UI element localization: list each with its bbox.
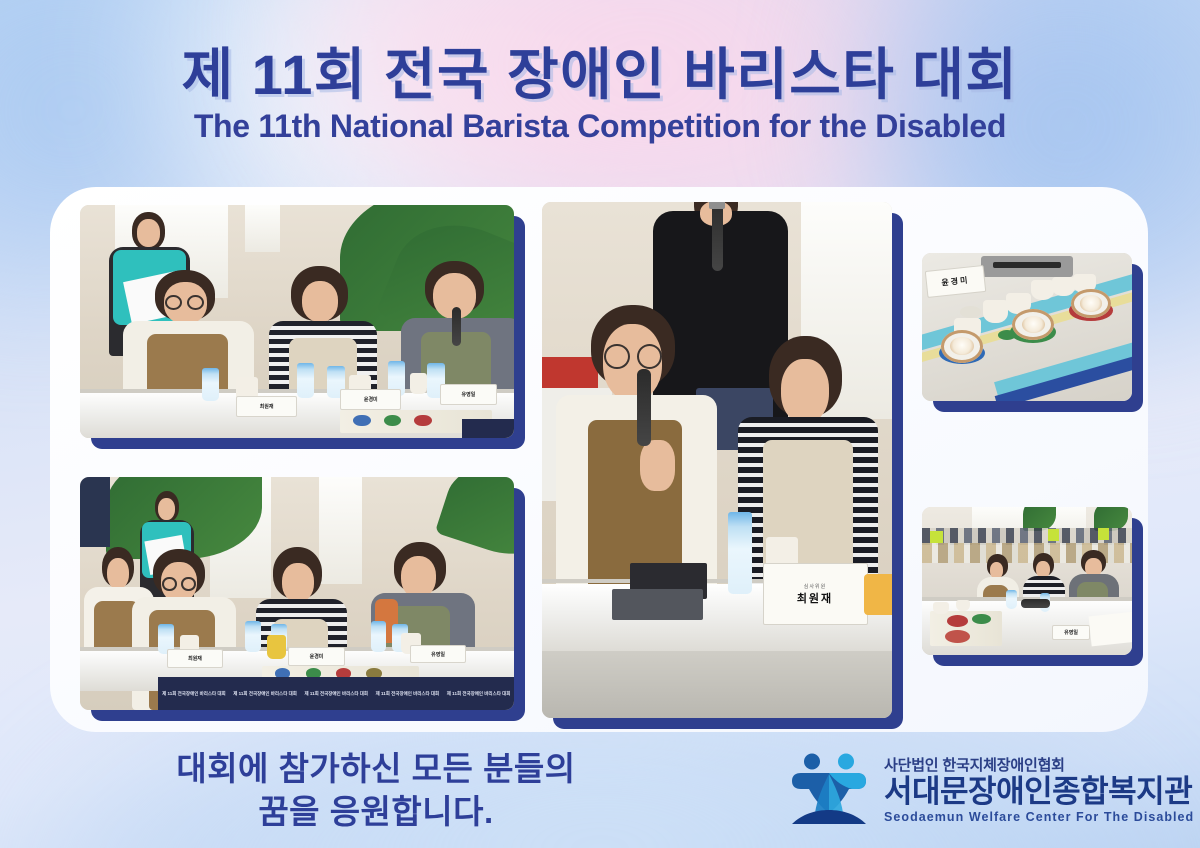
logo-text-block: 사단법인 한국지체장애인협회 서대문장애인종합복지관 Seodaemun Wel…: [884, 754, 1194, 825]
photo-top-left-namecard-1: 최원재: [236, 396, 297, 417]
photo-bottom-left-namecard-2: 윤경미: [288, 647, 344, 666]
photo-top-right-image: 윤경미: [922, 253, 1132, 401]
footer-message: 대회에 참가하신 모든 분들의 꿈을 응원합니다.: [96, 748, 656, 834]
photo-top-left-namecard-3: 유영일: [440, 384, 496, 405]
photo-bottom-right-namecard: 유영일: [1052, 625, 1090, 640]
photo-center[interactable]: 심사위원 최원재: [542, 202, 892, 718]
photo-bottom-right-image: 유영일: [922, 507, 1132, 655]
photo-center-namecard-name: 최원재: [797, 590, 833, 606]
footer-message-line2: 꿈을 응원합니다.: [96, 791, 656, 834]
photo-bottom-left-banner-text-4: 제 11회 전국장애인 바리스타 대회: [372, 691, 443, 697]
photo-top-right[interactable]: 윤경미: [922, 253, 1132, 401]
poster-root: 제 11회 전국 장애인 바리스타 대회 The 11th National B…: [0, 0, 1200, 848]
photo-bottom-left-banner-text-3: 제 11회 전국장애인 바리스타 대회: [300, 691, 371, 697]
photo-top-left-namecard-2: 윤경미: [340, 389, 401, 410]
two-people-arch-icon: [786, 752, 872, 826]
logo-association-name: 사단법인 한국지체장애인협회: [884, 754, 1194, 775]
photo-bottom-left-namecard-3: 유영일: [410, 645, 466, 664]
photo-center-namecard-role: 심사위원: [804, 583, 826, 590]
footer-message-line1: 대회에 참가하신 모든 분들의: [96, 748, 656, 791]
photo-bottom-left[interactable]: 최원재 윤경미 유영일 제 11회 전국장애인 바리스타 대회 제 11회 전국…: [80, 477, 514, 710]
logo-center-name-english: Seodaemun Welfare Center For The Disable…: [884, 810, 1194, 824]
page-title-korean: 제 11회 전국 장애인 바리스타 대회: [0, 46, 1200, 104]
logo-center-name-korean: 서대문장애인종합복지관: [884, 776, 1194, 809]
photo-top-right-namecard: 윤경미: [941, 274, 970, 288]
photo-bottom-left-banner-text-5: 제 11회 전국장애인 바리스타 대회: [443, 691, 514, 697]
photo-bottom-left-image: 최원재 윤경미 유영일 제 11회 전국장애인 바리스타 대회 제 11회 전국…: [80, 477, 514, 710]
organization-logo[interactable]: 사단법인 한국지체장애인협회 서대문장애인종합복지관 Seodaemun Wel…: [786, 752, 1194, 826]
photo-bottom-left-banner-text-2: 제 11회 전국장애인 바리스타 대회: [229, 691, 300, 697]
photo-center-image: 심사위원 최원재: [542, 202, 892, 718]
photo-bottom-right[interactable]: 유영일: [922, 507, 1132, 655]
page-title-english: The 11th National Barista Competition fo…: [0, 109, 1200, 144]
photo-top-left[interactable]: 최원재 윤경미 유영일: [80, 205, 514, 438]
photo-bottom-left-namecard-1: 최원재: [167, 649, 223, 668]
photo-top-left-image: 최원재 윤경미 유영일: [80, 205, 514, 438]
poster-header: 제 11회 전국 장애인 바리스타 대회 The 11th National B…: [0, 46, 1200, 144]
photo-bottom-left-banner-text: 제 11회 전국장애인 바리스타 대회: [158, 691, 229, 697]
